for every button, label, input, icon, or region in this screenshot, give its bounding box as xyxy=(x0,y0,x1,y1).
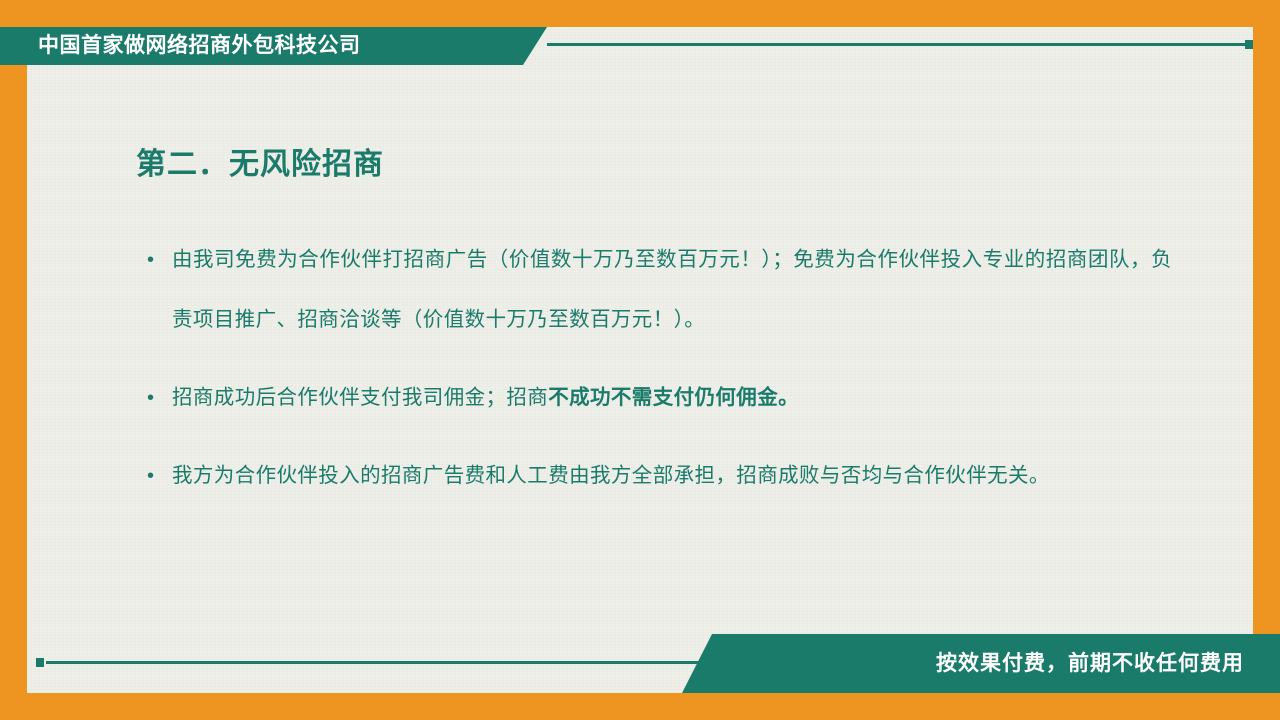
header-divider-end-cap xyxy=(1245,40,1253,49)
footer-divider-line xyxy=(46,661,706,664)
list-item: • 我方为合作伙伴投入的招商广告费和人工费由我方全部承担，招商成败与否均与合作伙… xyxy=(142,446,1172,506)
list-item-text: 由我司免费为合作伙伴打招商广告（价值数十万乃至数百万元！）；免费为合作伙伴投入专… xyxy=(172,248,1172,331)
header-divider-line xyxy=(547,43,1245,46)
header-title: 中国首家做网络招商外包科技公司 xyxy=(38,27,361,65)
list-item-text: 招商成功后合作伙伴支付我司佣金；招商 xyxy=(172,386,548,409)
bullet-dot-icon: • xyxy=(147,230,154,290)
bullet-dot-icon: • xyxy=(147,446,154,506)
bullet-dot-icon: • xyxy=(147,368,154,428)
slide-canvas: 中国首家做网络招商外包科技公司 第二．无风险招商 • 由我司免费为合作伙伴打招商… xyxy=(0,0,1280,720)
bullet-list: • 由我司免费为合作伙伴打招商广告（价值数十万乃至数百万元！）；免费为合作伙伴投… xyxy=(142,230,1172,524)
list-item: • 由我司免费为合作伙伴打招商广告（价值数十万乃至数百万元！）；免费为合作伙伴投… xyxy=(142,230,1172,350)
page-title: 第二．无风险招商 xyxy=(136,139,384,183)
footer-divider-start-cap xyxy=(36,658,44,667)
list-item-text-emphasis: 不成功不需支付仍何佣金。 xyxy=(548,386,799,409)
list-item: • 招商成功后合作伙伴支付我司佣金；招商不成功不需支付仍何佣金。 xyxy=(142,368,1172,428)
footer-tagline: 按效果付费，前期不收任何费用 xyxy=(936,634,1244,693)
list-item-text: 我方为合作伙伴投入的招商广告费和人工费由我方全部承担，招商成败与否均与合作伙伴无… xyxy=(172,464,1050,487)
